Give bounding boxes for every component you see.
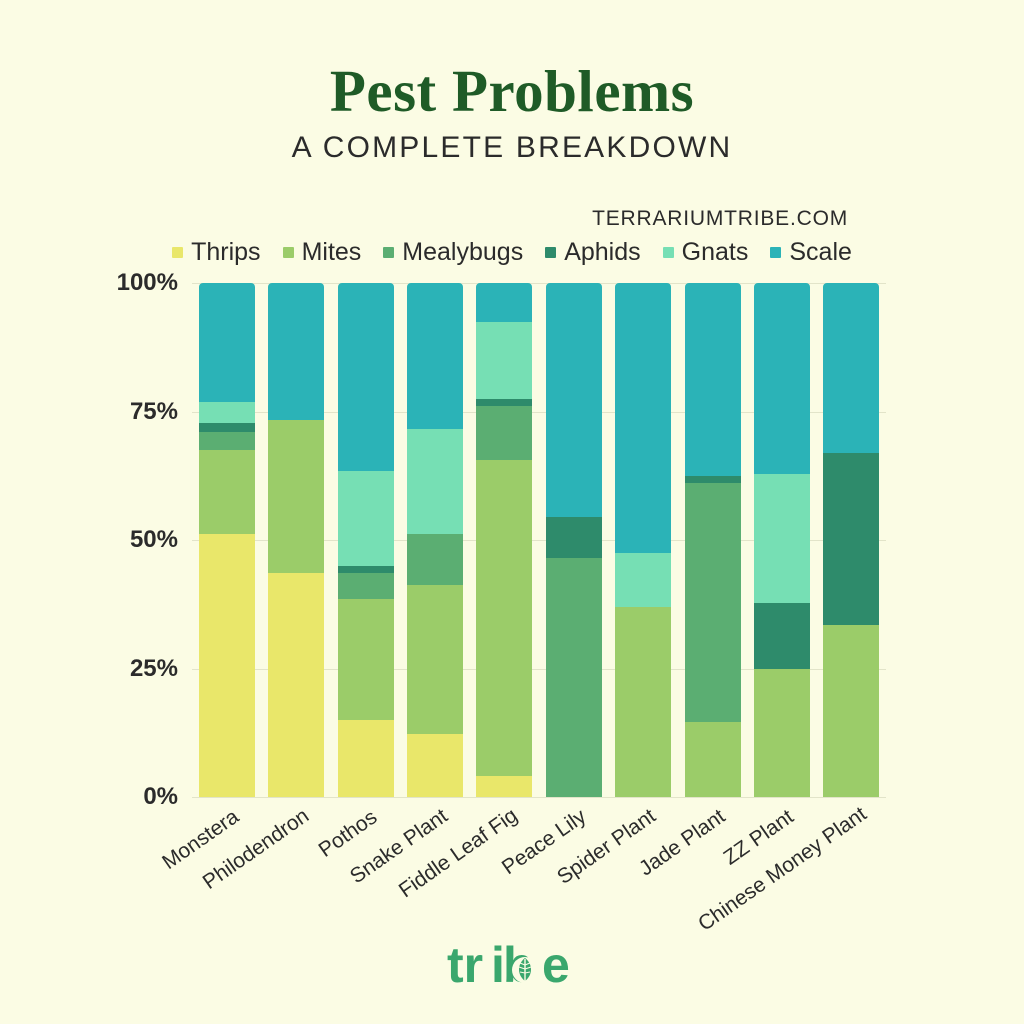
bar-segment-mealybugs[interactable] [685,483,741,722]
bar-segment-scale[interactable] [476,283,532,322]
bar-segment-aphids[interactable] [476,399,532,407]
bar-segment-mealybugs[interactable] [338,573,394,599]
bar-group [400,283,469,797]
bar-segment-thrips[interactable] [268,573,324,797]
bar-segment-gnats[interactable] [199,402,255,423]
legend-swatch-gnats-icon [663,247,674,258]
bar-segment-mites[interactable] [199,450,255,534]
svg-text:tr: tr [447,937,483,993]
bar-segment-mealybugs[interactable] [476,406,532,460]
bar-segment-scale[interactable] [823,283,879,453]
bar-segment-gnats[interactable] [754,474,810,603]
bar-segment-scale[interactable] [685,283,741,476]
chart-plot-area: 0%25%50%75%100% [192,283,886,797]
bar-segment-mites[interactable] [754,669,810,798]
bar-segment-mites[interactable] [476,460,532,776]
bar-segment-aphids[interactable] [754,603,810,669]
bar-segment-mealybugs[interactable] [199,432,255,450]
bar-segment-mites[interactable] [407,585,463,734]
bar-group [470,283,539,797]
stacked-bar[interactable] [615,283,671,797]
stacked-bar[interactable] [476,283,532,797]
legend-label: Gnats [682,240,749,265]
bar-group [747,283,816,797]
bar-group [678,283,747,797]
bar-group [261,283,330,797]
bar-segment-mites[interactable] [338,599,394,720]
bar-segment-mites[interactable] [685,722,741,797]
y-axis-tick-label: 0% [143,783,178,811]
bar-segment-thrips[interactable] [476,776,532,797]
legend-label: Scale [789,240,852,265]
stacked-bar[interactable] [407,283,463,797]
legend-label: Mealybugs [402,240,523,265]
legend-swatch-thrips-icon [172,247,183,258]
tribe-logo-icon: tr i b e [447,937,577,993]
bar-segment-aphids[interactable] [199,423,255,432]
legend-item-scale[interactable]: Scale [770,240,852,265]
bar-group [331,283,400,797]
x-axis-labels: MonsteraPhilodendronPothosSnake PlantFid… [192,797,886,927]
bar-segment-scale[interactable] [754,283,810,474]
bar-segment-aphids[interactable] [823,453,879,625]
bar-segment-gnats[interactable] [615,553,671,607]
page-subtitle: A COMPLETE BREAKDOWN [0,133,1024,163]
legend-item-mites[interactable]: Mites [283,240,362,265]
y-axis-tick-label: 75% [130,398,178,426]
legend-label: Mites [302,240,362,265]
brand-logo: tr i b e [0,937,1024,993]
bar-segment-aphids[interactable] [338,566,394,574]
bar-segment-scale[interactable] [407,283,463,429]
bar-group [192,283,261,797]
bar-segment-aphids[interactable] [546,517,602,558]
bar-segment-mites[interactable] [268,420,324,573]
bar-segment-gnats[interactable] [476,322,532,399]
stacked-bar[interactable] [546,283,602,797]
y-axis-tick-label: 100% [117,269,178,297]
legend-item-thrips[interactable]: Thrips [172,240,260,265]
svg-text:e: e [542,937,570,993]
x-axis-label-cell: Chinese Money Plant [817,797,886,927]
legend-swatch-aphids-icon [545,247,556,258]
legend-swatch-scale-icon [770,247,781,258]
y-axis-tick-label: 25% [130,655,178,683]
legend-label: Aphids [564,240,640,265]
legend-swatch-mealybugs-icon [383,247,394,258]
legend-item-mealybugs[interactable]: Mealybugs [383,240,523,265]
x-axis-label-cell: Philodendron [261,797,330,927]
bar-segment-aphids[interactable] [685,476,741,484]
chart-legend: ThripsMitesMealybugsAphidsGnatsScale [0,240,1024,265]
bar-segment-gnats[interactable] [338,471,394,566]
stacked-bar[interactable] [823,283,879,797]
bars-container [192,283,886,797]
bar-segment-mealybugs[interactable] [407,534,463,584]
legend-swatch-mites-icon [283,247,294,258]
bar-segment-mites[interactable] [615,607,671,797]
bar-segment-mites[interactable] [823,625,879,797]
stacked-bar[interactable] [754,283,810,797]
bar-segment-scale[interactable] [268,283,324,420]
legend-item-gnats[interactable]: Gnats [663,240,749,265]
bar-segment-scale[interactable] [199,283,255,402]
bar-segment-thrips[interactable] [338,720,394,797]
y-axis-tick-label: 50% [130,526,178,554]
bar-segment-scale[interactable] [615,283,671,553]
stacked-bar[interactable] [199,283,255,797]
bar-segment-mealybugs[interactable] [546,558,602,797]
bar-segment-thrips[interactable] [199,534,255,797]
stacked-bar[interactable] [268,283,324,797]
bar-group [817,283,886,797]
bar-segment-scale[interactable] [338,283,394,471]
legend-item-aphids[interactable]: Aphids [545,240,640,265]
bar-segment-thrips[interactable] [407,734,463,797]
bar-group [539,283,608,797]
stacked-bar[interactable] [338,283,394,797]
bar-group [608,283,677,797]
bar-segment-scale[interactable] [546,283,602,517]
site-url: TERRARIUMTRIBE.COM [592,207,848,231]
stacked-bar[interactable] [685,283,741,797]
bar-segment-gnats[interactable] [407,429,463,534]
legend-label: Thrips [191,240,260,265]
page-title: Pest Problems [0,62,1024,121]
